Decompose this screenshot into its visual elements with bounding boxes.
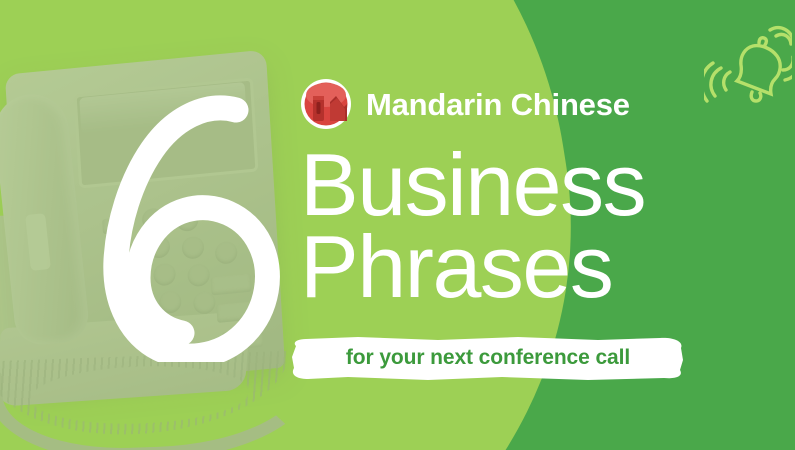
- headline: Business Phrases: [300, 142, 770, 310]
- promo-banner: Mandarin Chinese Business Phrases for yo…: [0, 0, 795, 450]
- brand-lockup: Mandarin Chinese: [300, 78, 630, 130]
- brand-name: Mandarin Chinese: [366, 89, 630, 120]
- mandarin-chinese-logo-icon: [300, 78, 352, 130]
- subtitle-text: for your next conference call: [288, 336, 688, 380]
- subtitle-banner: for your next conference call: [288, 336, 688, 380]
- numeral-six: [86, 92, 296, 362]
- headline-line-1: Business: [300, 142, 770, 228]
- ringing-bell-icon: [704, 22, 792, 108]
- headline-line-2: Phrases: [300, 224, 770, 310]
